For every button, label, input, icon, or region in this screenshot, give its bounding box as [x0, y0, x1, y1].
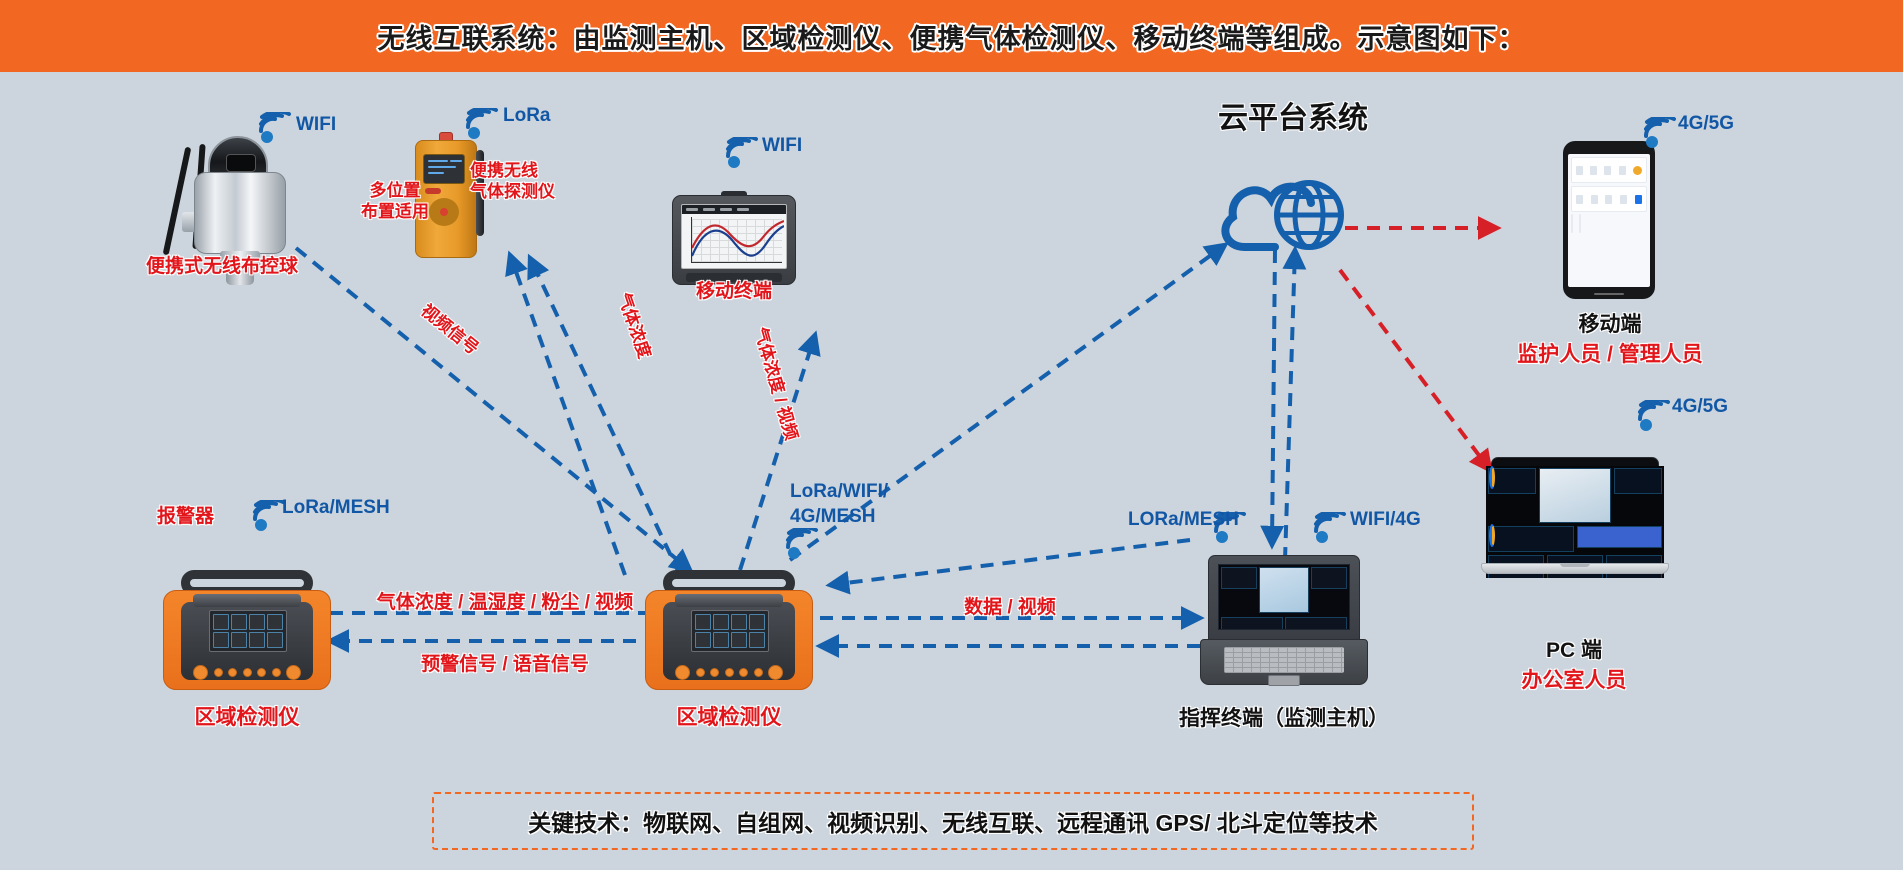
key-technology-text: 关键技术：物联网、自组网、视频识别、无线互联、远程通讯 GPS/ 北斗定位等技术	[528, 804, 1378, 838]
screen-panel	[1488, 526, 1574, 552]
laptop-notch	[1560, 563, 1590, 567]
screen-row	[1219, 565, 1349, 615]
wifi-icon	[725, 137, 759, 174]
laptop-keyboard[interactable]	[1224, 647, 1344, 673]
screen-video-panel	[1577, 526, 1663, 548]
sublabel-smartphone: 监护人员 / 管理人员	[1517, 342, 1703, 368]
label-line-2: 气体探测仪	[470, 182, 555, 201]
phone-home-indicator	[1594, 293, 1624, 295]
screen-panel	[1488, 468, 1536, 494]
wifi-icon	[1637, 400, 1671, 437]
cloud-platform-title: 云平台系统	[1218, 100, 1368, 138]
screen-panel	[1221, 567, 1257, 589]
screen-map	[1539, 468, 1610, 523]
label-mobile-terminal: 移动终端	[696, 280, 772, 304]
detector-controls	[675, 664, 783, 680]
link-label-gas-concentration: 气体浓度	[613, 290, 655, 361]
signal-line-2: 4G/MESH	[790, 506, 876, 527]
wifi-icon	[252, 500, 286, 537]
device-area-detector-left[interactable]	[163, 572, 331, 692]
key-technology-box: 关键技术：物联网、自组网、视频识别、无线互联、远程通讯 GPS/ 北斗定位等技术	[432, 792, 1474, 850]
antenna-icon	[163, 147, 192, 256]
label-command-terminal: 指挥终端（监测主机）	[1179, 706, 1389, 732]
screen-row	[1219, 615, 1349, 630]
chart-y-axis	[691, 217, 692, 263]
device-mobile-terminal[interactable]	[672, 195, 796, 285]
screen-panel	[1614, 468, 1662, 494]
phone-card	[1571, 186, 1647, 212]
wifi-icon	[1313, 512, 1347, 549]
detector-keypad	[429, 198, 459, 226]
link-label-left-up: 气体浓度 / 温湿度 / 粉尘 / 视频	[377, 591, 634, 615]
label-portable-gas-detector: 便携无线 气体探测仪	[470, 160, 555, 203]
phone-chart	[1571, 214, 1573, 233]
note-line-2: 布置适用	[361, 202, 429, 221]
screen-map	[1259, 567, 1309, 613]
tablet-screen	[681, 204, 787, 269]
link-label-gas-concentration-video: 气体浓度 / 视频	[750, 325, 802, 443]
device-area-detector-right[interactable]	[645, 572, 813, 692]
detector-display	[209, 610, 287, 652]
signal-label-alarm: LoRa/MESH	[282, 496, 390, 520]
device-pc-laptop[interactable]	[1481, 457, 1669, 583]
phone-card	[1571, 157, 1647, 183]
signal-line-1: LoRa/WIFI/	[790, 481, 888, 502]
wifi-icon	[258, 112, 292, 149]
case-vent	[193, 594, 301, 607]
laptop-touchpad[interactable]	[1268, 675, 1300, 686]
device-command-terminal[interactable]	[1200, 555, 1368, 687]
screen-row	[1488, 526, 1662, 552]
detector-display	[691, 610, 769, 652]
phone-screen	[1568, 154, 1650, 287]
diagram-canvas: 无线互联系统：由监测主机、区域检测仪、便携气体检测仪、移动终端等组成。示意图如下…	[0, 0, 1903, 870]
screen-panel	[1221, 617, 1283, 630]
link-label-left-down: 预警信号 / 语音信号	[421, 653, 589, 677]
signal-label-command-left: LORa/MESH	[1128, 508, 1239, 532]
cloud-platform-icon	[1215, 155, 1355, 260]
camera-body	[194, 172, 286, 254]
signal-label-pc-terminal: 4G/5G	[1672, 395, 1728, 419]
signal-label-command-right: WIFI/4G	[1350, 508, 1421, 532]
label-smartphone: 移动端	[1579, 312, 1642, 338]
chart-x-axis	[691, 262, 782, 263]
screen-panel	[1285, 617, 1347, 630]
label-pc-terminal: PC 端	[1546, 638, 1602, 664]
label-area-detector-left: 区域检测仪	[195, 705, 300, 731]
label-ptz-ball: 便携式无线布控球	[146, 255, 298, 279]
page-title: 无线互联系统：由监测主机、区域检测仪、便携气体检测仪、移动终端等组成。示意图如下…	[378, 17, 1526, 56]
signal-label-area-detector-right: LoRa/WIFI/ 4G/MESH	[790, 480, 888, 529]
signal-label-ptz-ball: WIFI	[296, 113, 336, 137]
wifi-icon	[465, 108, 499, 145]
link-label-data-video: 数据 / 视频	[964, 596, 1056, 620]
pc-screen	[1486, 466, 1664, 578]
label-alarm: 报警器	[157, 505, 214, 529]
page-header: 无线互联系统：由监测主机、区域检测仪、便携气体检测仪、移动终端等组成。示意图如下…	[0, 0, 1903, 72]
note-portable-gas-detector: 多位置 布置适用	[361, 180, 429, 223]
screen-panel	[1311, 567, 1347, 589]
command-screen	[1218, 564, 1350, 630]
tablet-statusbar	[682, 205, 786, 214]
screen-row	[1488, 468, 1662, 523]
signal-label-mobile-terminal: WIFI	[762, 134, 802, 158]
label-area-detector-right: 区域检测仪	[677, 705, 782, 731]
phone-footer-card	[1579, 214, 1581, 233]
link-label-video-signal: 视频信号	[417, 300, 483, 359]
device-smartphone[interactable]	[1563, 141, 1655, 299]
wifi-icon	[785, 528, 819, 565]
signal-label-portable-gas: LoRa	[503, 104, 551, 128]
detector-controls	[193, 664, 301, 680]
detector-screen	[423, 154, 465, 184]
wifi-icon	[1643, 117, 1677, 154]
note-line-1: 多位置	[370, 181, 421, 200]
case-vent	[675, 594, 783, 607]
sublabel-pc-terminal: 办公室人员	[1522, 668, 1627, 694]
label-line-1: 便携无线	[470, 161, 538, 180]
signal-label-smartphone: 4G/5G	[1678, 112, 1734, 136]
